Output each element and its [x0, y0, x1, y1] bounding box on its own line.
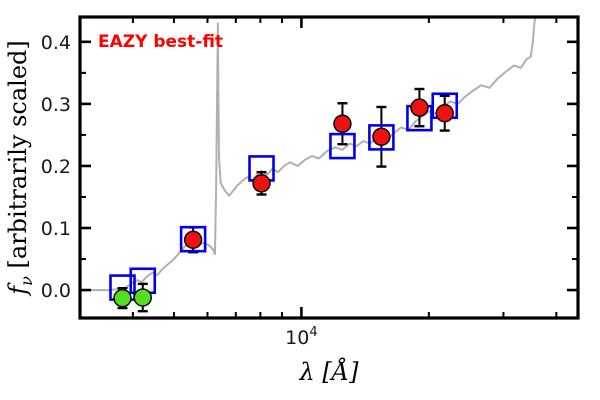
eazy-bestfit-annotation: EAZY best-fit — [98, 32, 223, 52]
x-tick-label: 104 — [285, 325, 317, 349]
axis-labels-layer: 1040.00.10.20.30.4λ [Å]fν [arbitrarily s… — [4, 32, 359, 386]
y-tick-label: 0.4 — [41, 32, 71, 54]
y-tick-label: 0.0 — [41, 280, 71, 302]
y-label-rest: [arbitrarily scaled] — [4, 40, 32, 276]
y-axis-label-group: fν [arbitrarily scaled] — [4, 40, 36, 297]
x-tick-exponent: 4 — [309, 325, 317, 340]
data-point-marker — [334, 115, 351, 132]
data-point-marker — [253, 175, 270, 192]
sed-plot-svg: 1040.00.10.20.30.4λ [Å]fν [arbitrarily s… — [0, 0, 600, 400]
observed-photometry-layer — [114, 99, 453, 307]
data-point-marker — [373, 128, 390, 145]
y-tick-label: 0.1 — [41, 218, 71, 240]
errorbar-layer — [118, 89, 450, 311]
data-point-marker — [436, 105, 453, 122]
template-spectrum-layer — [80, 17, 535, 290]
y-axis-label: fν [arbitrarily scaled] — [4, 40, 36, 297]
template-spectrum-line — [80, 17, 535, 290]
data-point-marker — [411, 99, 428, 116]
data-point-marker — [185, 231, 202, 248]
chart-figure: 1040.00.10.20.30.4λ [Å]fν [arbitrarily s… — [0, 0, 600, 400]
y-tick-label: 0.3 — [41, 94, 71, 116]
x-axis-label: λ [Å] — [299, 357, 360, 386]
data-point-marker — [114, 290, 131, 307]
data-point-marker — [134, 289, 151, 306]
y-label-subscript: ν — [17, 276, 36, 286]
y-tick-label: 0.2 — [41, 156, 71, 178]
